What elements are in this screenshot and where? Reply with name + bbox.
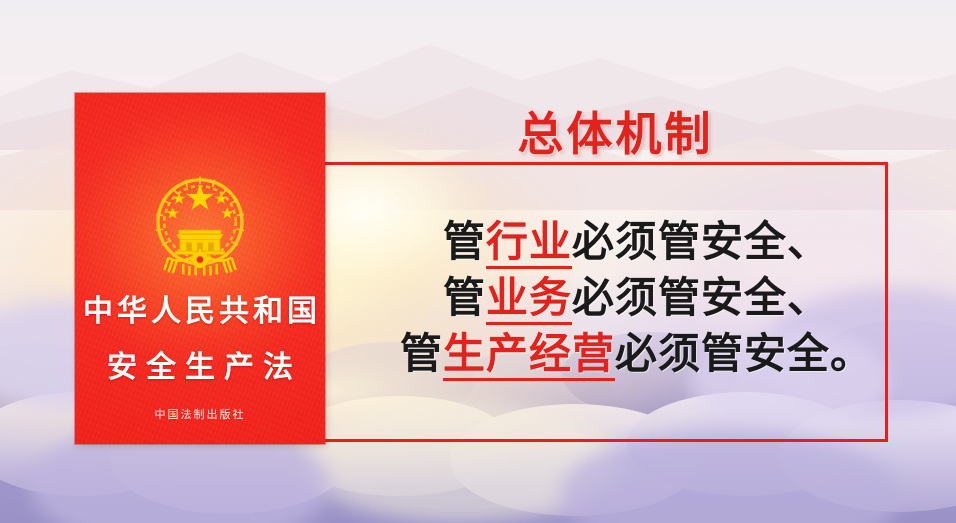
slide-canvas: 总体机制 管行业必须管安全、 管业务必须管安全、 管生产经营必须管安全。 bbox=[0, 0, 956, 523]
slogan-line-1: 管行业必须管安全、 bbox=[325, 214, 895, 270]
slogan-block: 管行业必须管安全、 管业务必须管安全、 管生产经营必须管安全。 bbox=[325, 214, 895, 382]
page-title: 总体机制 bbox=[325, 98, 956, 164]
book-title-line-1: 中华人民共和国 bbox=[75, 286, 325, 330]
slogan-line-2-post: 必须管安全、 bbox=[572, 274, 830, 321]
slogan-line-2-highlight: 业务 bbox=[486, 274, 572, 325]
slogan-line-3-highlight: 生产经营 bbox=[443, 330, 615, 381]
slogan-line-3-post: 必须管安全。 bbox=[615, 330, 873, 377]
slogan-line-1-pre: 管 bbox=[443, 218, 486, 265]
book-title-line-2: 安全生产法 bbox=[75, 342, 325, 386]
book-title: 中华人民共和国 安全生产法 bbox=[75, 286, 325, 386]
book-publisher: 中国法制出版社 bbox=[75, 406, 325, 422]
book-cover: 中华人民共和国 安全生产法 中国法制出版社 bbox=[75, 93, 325, 444]
slogan-line-1-post: 必须管安全、 bbox=[572, 218, 830, 265]
slogan-line-3: 管生产经营必须管安全。 bbox=[325, 326, 895, 382]
slogan-line-1-highlight: 行业 bbox=[486, 218, 572, 269]
slogan-line-3-pre: 管 bbox=[400, 330, 443, 377]
slogan-line-2: 管业务必须管安全、 bbox=[325, 270, 895, 326]
slogan-line-2-pre: 管 bbox=[443, 274, 486, 321]
national-emblem-icon bbox=[137, 163, 263, 289]
